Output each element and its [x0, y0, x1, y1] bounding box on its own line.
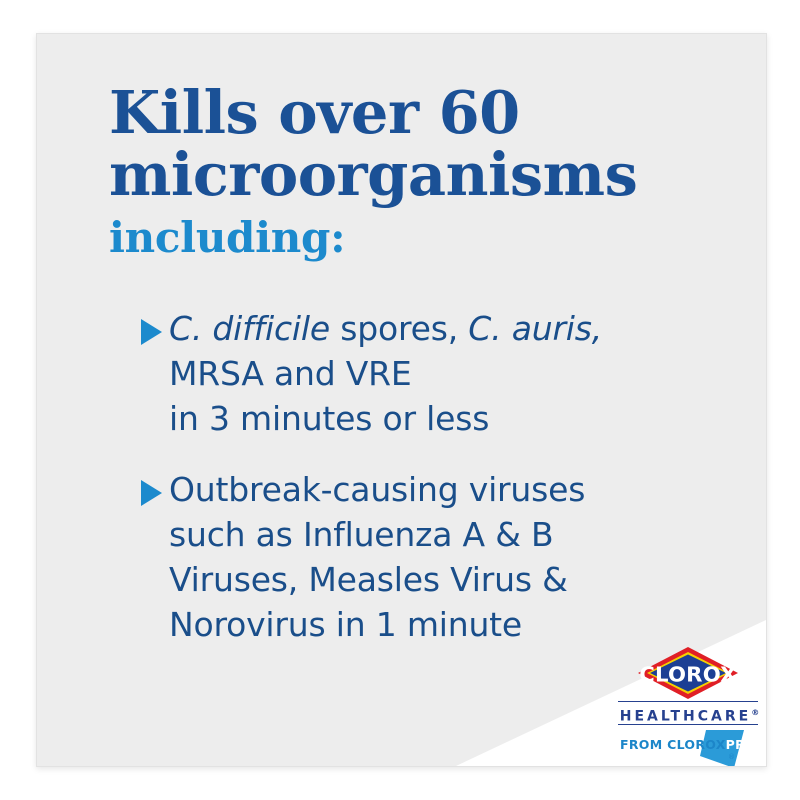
bullet-line: MRSA and VRE [169, 351, 727, 396]
from-label: FROM [620, 737, 667, 752]
headline-line-1: Kills over 60 [109, 82, 709, 144]
divider-top [618, 701, 758, 702]
clorox-label: CLOROX [667, 737, 726, 752]
bullet-line: in 3 minutes or less [169, 396, 727, 441]
bullet-line: C. difficile spores, C. auris, [169, 306, 727, 351]
cloroxpro-text: FROM CLOROXPRO [612, 734, 764, 756]
subheadline: including: [109, 210, 709, 266]
species-name: C. difficile [169, 309, 330, 348]
species-name: C. auris, [468, 309, 602, 348]
healthcare-wordmark-row: HEALTHCARE® [612, 701, 764, 725]
list-item: Outbreak-causing viruses such as Influen… [107, 467, 727, 647]
clorox-diamond-icon: CLOROX [630, 646, 746, 700]
registered-trademark: ® [728, 753, 735, 761]
registered-trademark: ® [751, 708, 759, 717]
bullet-list: C. difficile spores, C. auris, MRSA and … [107, 306, 727, 673]
cloroxpro-endorsement: FROM CLOROXPRO ® [612, 734, 764, 767]
clorox-healthcare-logo: CLOROX HEALTHCARE® FROM CLOROXPRO ® [612, 646, 764, 767]
bullet-line: Norovirus in 1 minute [169, 602, 727, 647]
bullet-line: Viruses, Measles Virus & [169, 557, 727, 602]
healthcare-text: HEALTHCARE [620, 709, 751, 725]
bullet-line: Outbreak-causing viruses [169, 467, 727, 512]
bullet-text: Outbreak-causing viruses such as Influen… [169, 467, 727, 647]
headline-line-2: microorganisms [109, 144, 709, 206]
headline-block: Kills over 60 microorganisms including: [109, 82, 709, 266]
product-feature-graphic: Kills over 60 microorganisms including: … [0, 0, 800, 800]
svg-text:CLOROX: CLOROX [639, 663, 736, 686]
bullet-segment: spores, [330, 309, 468, 348]
pro-label: PRO [726, 737, 756, 752]
bullet-line: such as Influenza A & B [169, 512, 727, 557]
bullet-text: C. difficile spores, C. auris, MRSA and … [169, 306, 727, 441]
list-item: C. difficile spores, C. auris, MRSA and … [107, 306, 727, 441]
divider-bottom [618, 724, 758, 725]
triangle-right-icon [141, 319, 162, 345]
feature-card: Kills over 60 microorganisms including: … [36, 33, 767, 767]
triangle-right-icon [141, 480, 162, 506]
